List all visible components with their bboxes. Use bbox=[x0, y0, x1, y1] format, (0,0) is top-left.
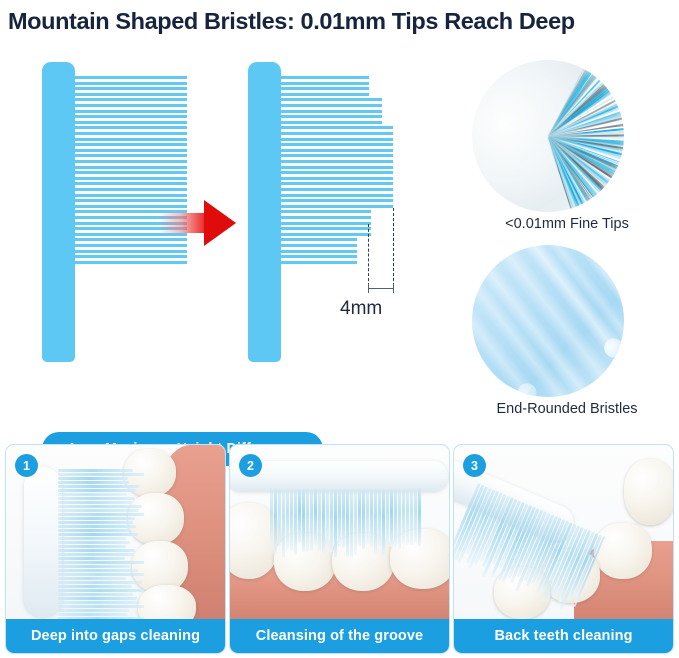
bristle-tuft bbox=[382, 489, 385, 557]
bristle-tuft bbox=[58, 497, 135, 500]
bristle-tuft bbox=[298, 489, 301, 543]
bristle-row bbox=[75, 149, 187, 152]
dimension-guide-long bbox=[393, 208, 394, 286]
bristle-row bbox=[75, 143, 187, 146]
bristle-tuft bbox=[286, 489, 289, 550]
bristle-tuft bbox=[378, 489, 381, 547]
panel-2-caption: Cleansing of the groove bbox=[230, 619, 449, 653]
fine-tips-macro: <0.01mm Fine Tips bbox=[462, 60, 672, 235]
bristle-tuft bbox=[322, 489, 325, 554]
bristle-row bbox=[75, 98, 187, 101]
bristle-row bbox=[281, 126, 393, 129]
bristle-tuft bbox=[354, 489, 357, 555]
bristle-tuft bbox=[58, 493, 127, 496]
bristle-row bbox=[281, 177, 393, 180]
bristle-tuft bbox=[58, 557, 125, 560]
bristle-tuft bbox=[58, 537, 126, 540]
arrow-tail bbox=[158, 213, 210, 233]
red-arrow-right-icon bbox=[158, 200, 240, 246]
bristle-tuft bbox=[346, 489, 349, 557]
brush-handle-right bbox=[248, 62, 281, 362]
panel-number-badge: 2 bbox=[239, 454, 262, 477]
bristle-row bbox=[75, 115, 187, 118]
bristle-tuft bbox=[278, 489, 281, 547]
bristle-tuft bbox=[410, 489, 413, 545]
bristle-row bbox=[75, 126, 187, 129]
bristle-row bbox=[75, 182, 187, 185]
bristle-row bbox=[75, 138, 187, 141]
bristle-row bbox=[281, 115, 382, 118]
bristle-tuft bbox=[58, 613, 128, 616]
bristle-tuft bbox=[342, 489, 345, 548]
bristle-row bbox=[281, 98, 382, 101]
bristle-row bbox=[281, 82, 369, 85]
bristle-row bbox=[75, 250, 187, 253]
bristle-row bbox=[281, 238, 357, 241]
bristle-row bbox=[281, 76, 369, 79]
bristle-tuft bbox=[330, 489, 333, 552]
bristle-row bbox=[281, 261, 357, 264]
bristle-row bbox=[75, 132, 187, 135]
bristle-row bbox=[281, 250, 357, 253]
bristle-tuft bbox=[362, 489, 365, 549]
bristle-tuft bbox=[58, 529, 131, 532]
bristle-row bbox=[281, 121, 382, 124]
bristle-row bbox=[75, 87, 187, 90]
panel-2-photo bbox=[230, 445, 449, 621]
dimension-bar bbox=[368, 288, 394, 289]
bristle-tuft bbox=[58, 489, 136, 492]
bristle-rows-right bbox=[281, 76, 416, 271]
usage-panels: 1 Deep into gaps cleaning 2 Cleansing of… bbox=[0, 440, 679, 658]
bristle-tuft bbox=[326, 489, 329, 547]
bristle-row bbox=[75, 194, 187, 197]
bristle-row bbox=[281, 210, 371, 213]
bristle-tuft bbox=[290, 489, 293, 551]
bristle-tuft bbox=[418, 489, 421, 546]
dimension-cap-left bbox=[368, 284, 369, 293]
bristle-tuft bbox=[398, 489, 401, 549]
bristle-tuft bbox=[270, 489, 273, 546]
bristle-row bbox=[281, 143, 393, 146]
bristle-tuft bbox=[58, 469, 133, 472]
bristle-comparison-diagram: 4mm 4mm Maximum Height Difference bbox=[0, 48, 455, 433]
bristle-row bbox=[75, 121, 187, 124]
bristle-tuft bbox=[406, 489, 409, 545]
bristle-row bbox=[281, 110, 382, 113]
panel-1-caption: Deep into gaps cleaning bbox=[6, 619, 225, 653]
bristle-row bbox=[75, 166, 187, 169]
dimension-guide-short bbox=[368, 224, 369, 286]
bristle-tuft bbox=[58, 533, 138, 536]
bristle-row bbox=[75, 104, 187, 107]
bristle-tuft bbox=[302, 489, 305, 552]
bristle-tuft bbox=[386, 489, 389, 546]
usage-panel-1[interactable]: 1 Deep into gaps cleaning bbox=[5, 444, 226, 654]
bristle-row bbox=[75, 76, 187, 79]
bristle-tuft bbox=[338, 489, 341, 547]
bristle-row bbox=[281, 199, 393, 202]
bristle-tuft bbox=[58, 545, 126, 548]
arrow-head bbox=[204, 200, 236, 246]
bristle-tuft bbox=[58, 593, 133, 596]
bristle-tuft bbox=[310, 489, 313, 551]
bristle-row bbox=[281, 194, 393, 197]
bristle-tuft bbox=[58, 521, 133, 524]
panel-3-photo bbox=[454, 445, 673, 621]
bristle-tuft bbox=[374, 489, 377, 554]
bristle-row bbox=[281, 132, 393, 135]
brush-bristles bbox=[58, 469, 144, 619]
bristle-tuft bbox=[318, 489, 321, 552]
panel-number-badge: 3 bbox=[463, 454, 486, 477]
brush-handle-left bbox=[42, 62, 75, 362]
bristle-row bbox=[281, 160, 393, 163]
fine-tips-bristle-fan bbox=[472, 60, 624, 212]
bristle-row bbox=[281, 244, 357, 247]
bristle-tuft bbox=[358, 489, 361, 546]
bristle-tuft bbox=[274, 489, 277, 554]
bristle-tuft bbox=[58, 477, 128, 480]
bristle-row bbox=[281, 222, 371, 225]
bristle-row bbox=[281, 188, 393, 191]
bristle-row bbox=[281, 149, 393, 152]
bristle-tuft bbox=[366, 489, 369, 544]
brush-head bbox=[230, 461, 448, 491]
bristle-tuft bbox=[306, 489, 309, 552]
tooth bbox=[594, 523, 652, 579]
bristle-tuft bbox=[402, 489, 405, 544]
bristle-tuft bbox=[414, 489, 417, 543]
dimension-label: 4mm bbox=[340, 298, 382, 320]
bristle-row bbox=[281, 87, 369, 90]
bristle-tuft bbox=[58, 513, 144, 516]
bristle-row bbox=[75, 188, 187, 191]
bristle-tuft bbox=[58, 473, 144, 476]
bristle-row bbox=[281, 171, 393, 174]
bristle-tuft bbox=[58, 577, 126, 580]
tooth bbox=[624, 459, 673, 525]
bristle-row bbox=[281, 104, 382, 107]
panel-3-caption: Back teeth cleaning bbox=[454, 619, 673, 653]
bristle-row bbox=[281, 154, 393, 157]
bristle-tuft bbox=[350, 489, 353, 557]
bristle-tuft bbox=[58, 509, 139, 512]
bristle-row bbox=[75, 255, 187, 258]
bristle-tuft bbox=[58, 517, 135, 520]
bristle-tuft bbox=[58, 525, 136, 528]
end-rounded-macro: End-Rounded Bristles bbox=[462, 245, 672, 420]
bristle-row bbox=[281, 233, 371, 236]
bristle-tuft bbox=[58, 553, 134, 556]
bristle-tuft bbox=[58, 501, 132, 504]
bristle-tuft bbox=[314, 489, 317, 545]
bristle-tuft bbox=[58, 589, 144, 592]
panel-number-badge: 1 bbox=[15, 454, 38, 477]
bristle-tuft bbox=[58, 485, 139, 488]
bristle-row bbox=[75, 171, 187, 174]
end-rounded-bristle-rods bbox=[472, 245, 624, 397]
bristle-tuft bbox=[58, 585, 132, 588]
fine-tips-circle-image bbox=[472, 60, 624, 212]
bristle-tuft bbox=[58, 597, 137, 600]
bristle-row bbox=[281, 255, 357, 258]
dimension-cap-right bbox=[393, 284, 394, 293]
bristle-row bbox=[75, 160, 187, 163]
bristle-tuft bbox=[58, 573, 144, 576]
bristle-tuft bbox=[58, 549, 135, 552]
bristle-row bbox=[75, 82, 187, 85]
bristle-tuft bbox=[58, 481, 129, 484]
bristle-row bbox=[75, 93, 187, 96]
bristle-row bbox=[75, 110, 187, 113]
page-title: Mountain Shaped Bristles: 0.01mm Tips Re… bbox=[8, 4, 676, 38]
bristle-tuft bbox=[58, 601, 140, 604]
usage-panel-2[interactable]: 2 Cleansing of the groove bbox=[229, 444, 450, 654]
bristle-row bbox=[281, 216, 371, 219]
bristle-tuft bbox=[58, 569, 138, 572]
bristle-row bbox=[75, 154, 187, 157]
bristle-row bbox=[281, 205, 393, 208]
bristle-tuft bbox=[58, 609, 129, 612]
bristle-tuft bbox=[58, 561, 144, 564]
bristle-tuft bbox=[334, 489, 337, 557]
brush-head bbox=[24, 467, 62, 617]
fine-tips-caption: <0.01mm Fine Tips bbox=[462, 216, 672, 232]
bristle-row bbox=[75, 177, 187, 180]
bristle-row bbox=[281, 166, 393, 169]
bristle-tuft bbox=[370, 489, 373, 547]
brush-bristles bbox=[270, 489, 422, 557]
bristle-tuft bbox=[58, 565, 130, 568]
bristle-tuft bbox=[282, 489, 285, 557]
bristle-tuft bbox=[58, 581, 142, 584]
bristle-tuft bbox=[394, 489, 397, 547]
bristle-tuft bbox=[390, 489, 393, 547]
panel-1-photo bbox=[6, 445, 225, 621]
bristle-row bbox=[281, 182, 393, 185]
end-rounded-circle-image bbox=[472, 245, 624, 397]
bristle-row bbox=[281, 93, 369, 96]
bristle-tuft bbox=[58, 541, 130, 544]
bristle-tuft bbox=[294, 489, 297, 555]
end-rounded-caption: End-Rounded Bristles bbox=[462, 401, 672, 417]
bristle-row bbox=[75, 261, 187, 264]
bristle-row bbox=[281, 227, 371, 230]
bristle-tuft bbox=[58, 505, 142, 508]
bristle-tuft bbox=[58, 605, 144, 608]
usage-panel-3[interactable]: 3 Back teeth cleaning bbox=[453, 444, 674, 654]
bristle-row bbox=[281, 138, 393, 141]
tooth bbox=[138, 585, 196, 621]
